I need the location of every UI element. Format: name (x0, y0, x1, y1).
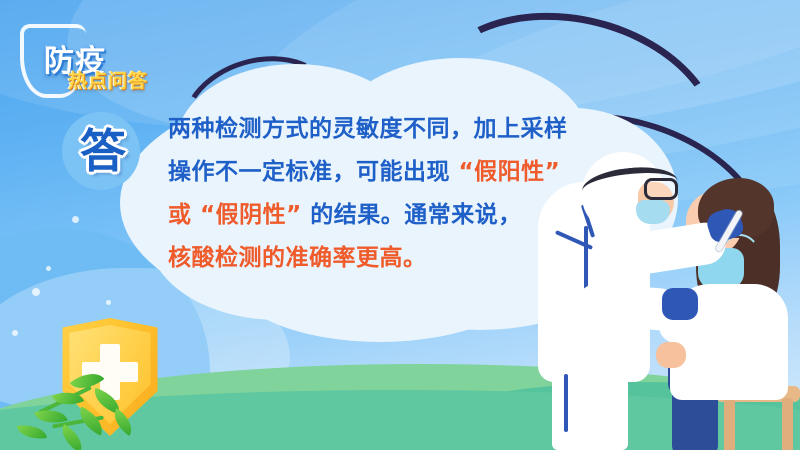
answer-segment: 的结果。通常来说， (302, 202, 522, 228)
worker-glove (662, 288, 698, 320)
bubble-dot (106, 300, 111, 305)
answer-badge-label: 答 (70, 118, 136, 184)
logo-subtitle: 热点问答 (68, 66, 148, 93)
answer-segment: 两种检测方式的灵敏度不同，加上采样 (168, 116, 568, 142)
testing-scene-illustration (520, 130, 800, 450)
bubble-dot (72, 216, 79, 223)
patient-hand (656, 342, 686, 368)
answer-segment: “假阴性” (200, 202, 302, 228)
bubble-dot (46, 266, 51, 271)
stool-leg (724, 398, 735, 450)
answer-segment: 核酸检测的准确率更高。 (168, 245, 427, 271)
bubble-dot (12, 330, 18, 336)
poster-canvas: 防疫 热点问答 答 两种检测方式的灵敏度不同，加上采样操作不一定标准，可能出现 … (0, 0, 800, 450)
answer-segment: 操作不一定标准，可能出现 (168, 159, 459, 185)
stool-leg (782, 398, 793, 450)
bubble-dot (32, 288, 40, 296)
shield-with-cross-icon (56, 318, 164, 436)
brand-logo: 防疫 热点问答 (14, 22, 164, 102)
ppe-seam (564, 374, 568, 432)
answer-segment: 或 (168, 202, 200, 228)
worker-mask-icon (636, 200, 670, 224)
